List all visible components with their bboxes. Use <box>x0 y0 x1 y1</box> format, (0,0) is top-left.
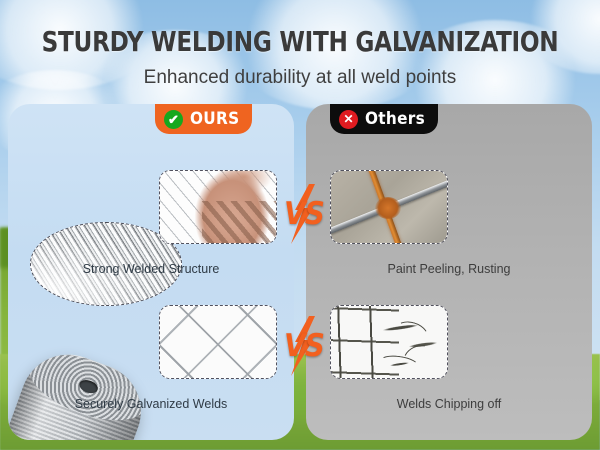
vs-badge-row-1: VS <box>277 186 331 242</box>
detail-card-hand-gripping-welded-mesh <box>159 170 277 244</box>
vs-badge-row-2: VS <box>277 318 331 374</box>
detail-card-clean-galvanized-mesh-grid <box>159 305 277 379</box>
badge-others: ✕ Others <box>330 104 438 134</box>
vs-label: VS <box>284 196 324 232</box>
check-circle-icon: ✔ <box>164 110 183 129</box>
detail-card-broken-unraveling-mesh <box>330 305 448 379</box>
badge-ours: ✔ OURS <box>155 104 252 134</box>
hand-on-mesh-image <box>160 171 276 243</box>
badge-ours-label: OURS <box>190 109 239 129</box>
clean-mesh-image <box>160 306 276 378</box>
header: STURDY WELDING WITH GALVANIZATION Enhanc… <box>0 0 600 89</box>
detail-card-rusted-wire-weld-joint <box>330 170 448 244</box>
x-circle-icon: ✕ <box>339 110 358 129</box>
caption-ours-row-2: Securely Galvanized Welds <box>8 397 294 411</box>
page-title: STURDY WELDING WITH GALVANIZATION <box>24 25 576 58</box>
product-image-silver-mesh-roll <box>8 341 154 440</box>
caption-ours-row-1: Strong Welded Structure <box>8 262 294 276</box>
caption-others-row-2: Welds Chipping off <box>306 397 592 411</box>
vs-label: VS <box>284 328 324 364</box>
caption-others-row-1: Paint Peeling, Rusting <box>306 262 592 276</box>
page-subtitle: Enhanced durability at all weld points <box>0 67 600 89</box>
badge-others-label: Others <box>365 109 425 129</box>
rust-spot <box>375 197 401 219</box>
